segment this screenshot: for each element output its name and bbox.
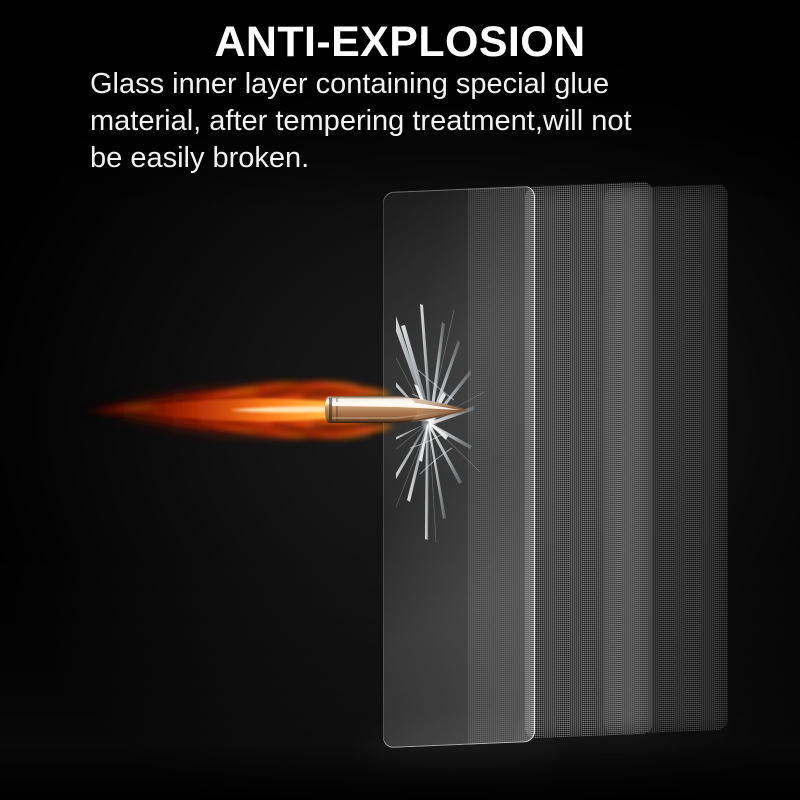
description-text: Glass inner layer containing special glu… bbox=[90, 66, 738, 177]
description-line-2: material, after tempering treatment,will… bbox=[90, 103, 738, 140]
middle-mesh-panel bbox=[525, 182, 653, 739]
page-title: ANTI-EXPLOSION bbox=[0, 17, 800, 67]
middle-panel-mesh-texture bbox=[525, 182, 653, 739]
description-line-1: Glass inner layer containing special glu… bbox=[90, 66, 738, 103]
front-glass-panel bbox=[383, 186, 535, 748]
description-line-3: be easily broken. bbox=[90, 140, 738, 177]
product-feature-image: ANTI-EXPLOSION Glass inner layer contain… bbox=[0, 0, 800, 800]
front-panel-sheen bbox=[383, 186, 535, 748]
